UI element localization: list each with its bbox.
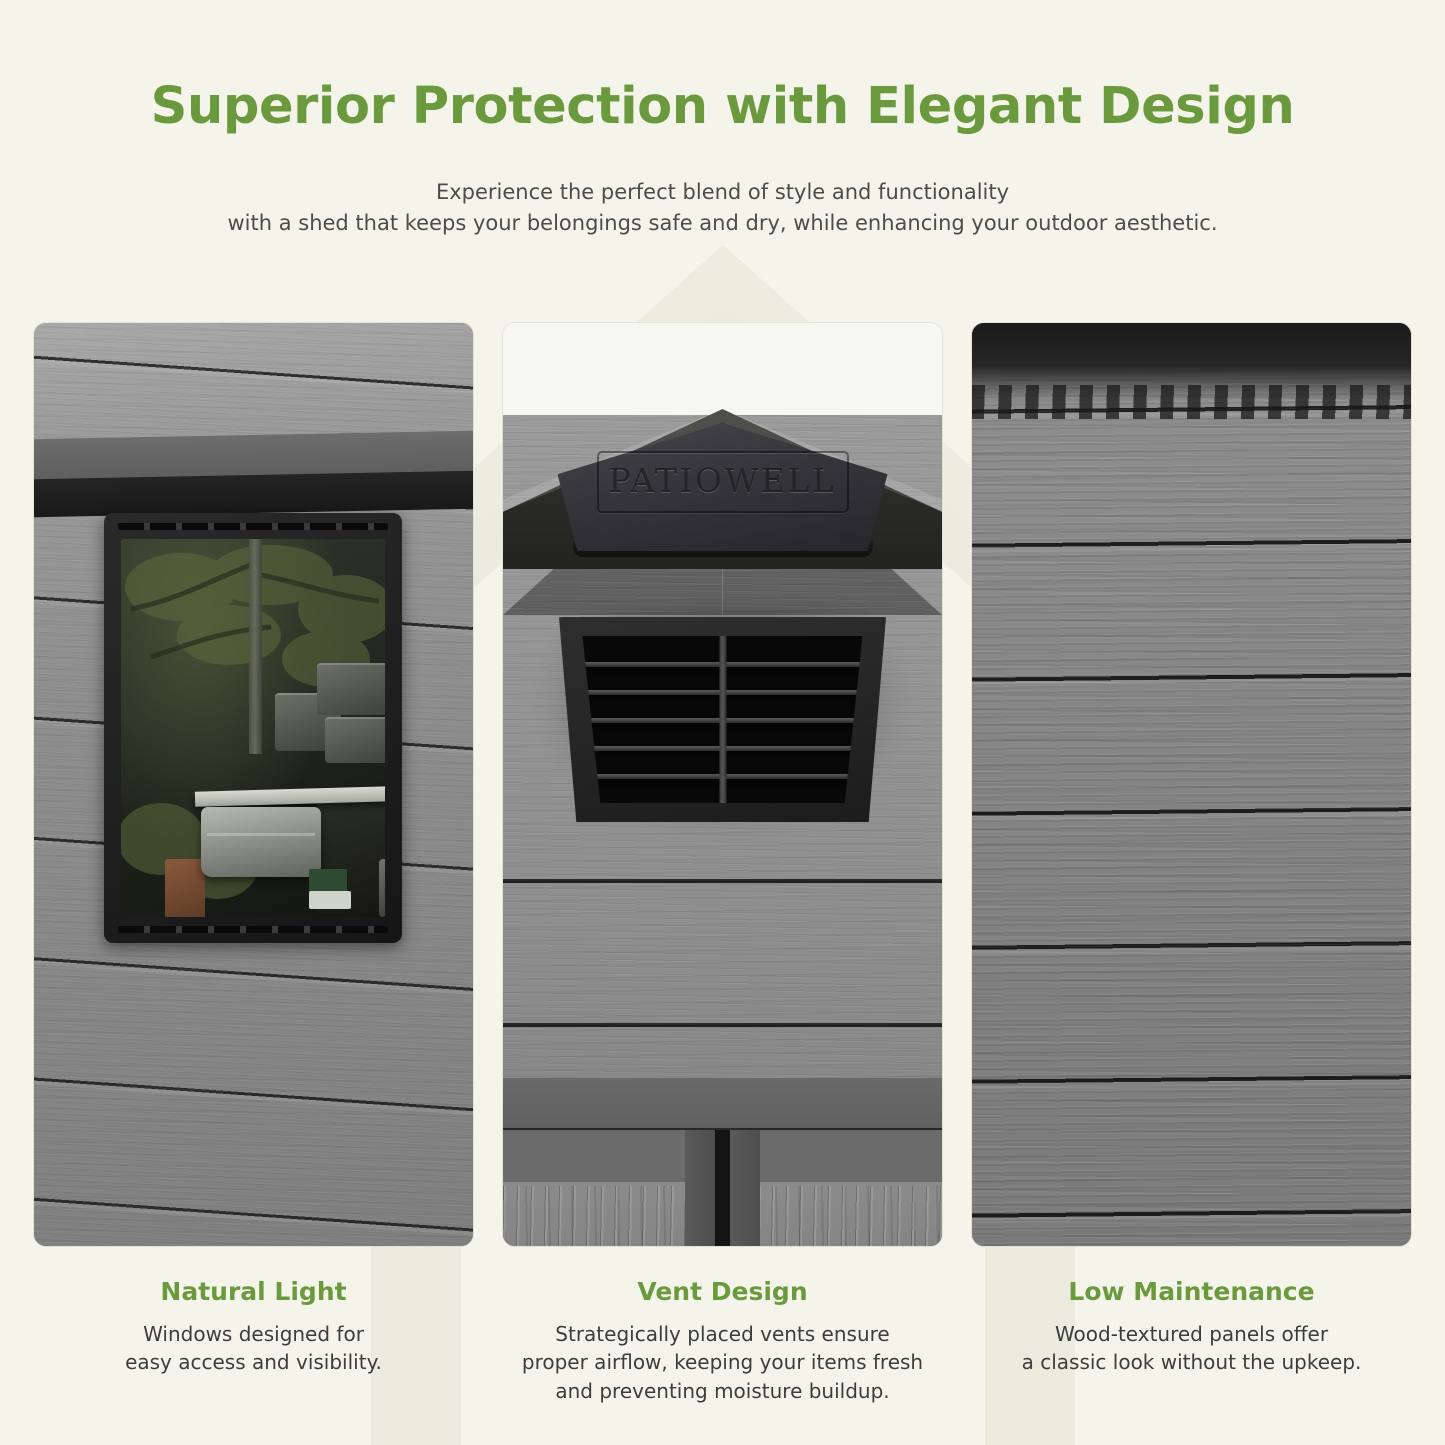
- vent-louvers-icon: [574, 636, 872, 803]
- brand-emboss-text: PATIOWELL: [609, 461, 837, 500]
- caption-text: Wood-textured panels offer a classic loo…: [971, 1320, 1412, 1377]
- shed-doors: [503, 1130, 942, 1246]
- caption-low-maintenance: Low Maintenance Wood-textured panels off…: [971, 1247, 1412, 1377]
- subtitle-line-2: with a shed that keeps your belongings s…: [0, 208, 1445, 238]
- feature-card-row: Natural Light Windows designed for easy …: [0, 322, 1445, 1405]
- feature-card-natural-light: Natural Light Windows designed for easy …: [33, 322, 474, 1405]
- caption-title: Vent Design: [502, 1277, 943, 1307]
- caption-text: Windows designed for easy access and vis…: [33, 1320, 474, 1377]
- window-frame-icon: [104, 513, 402, 943]
- caption-line-2: easy access and visibility.: [33, 1348, 474, 1376]
- caption-title: Low Maintenance: [971, 1277, 1412, 1307]
- caption-line-1: Strategically placed vents ensure: [502, 1320, 943, 1348]
- caption-line-2: a classic look without the upkeep.: [971, 1348, 1412, 1376]
- caption-natural-light: Natural Light Windows designed for easy …: [33, 1247, 474, 1377]
- shed-vent-photo: PATIOWELL: [502, 322, 943, 1247]
- caption-vent-design: Vent Design Strategically placed vents e…: [502, 1247, 943, 1405]
- caption-title: Natural Light: [33, 1277, 474, 1307]
- feature-card-low-maintenance: Low Maintenance Wood-textured panels off…: [971, 322, 1412, 1405]
- page-subtitle: Experience the perfect blend of style an…: [0, 177, 1445, 238]
- shed-window-photo: [33, 322, 474, 1247]
- subtitle-line-1: Experience the perfect blend of style an…: [436, 180, 1009, 204]
- feature-card-vent-design: PATIOWELL Vent Design St: [502, 322, 943, 1405]
- header: Superior Protection with Elegant Design …: [0, 0, 1445, 238]
- caption-line-2: proper airflow, keeping your items fresh: [502, 1348, 943, 1376]
- caption-line-1: Wood-textured panels offer: [971, 1320, 1412, 1348]
- caption-line-1: Windows designed for: [33, 1320, 474, 1348]
- caption-text: Strategically placed vents ensure proper…: [502, 1320, 943, 1405]
- caption-line-3: and preventing moisture buildup.: [502, 1377, 943, 1405]
- page-title: Superior Protection with Elegant Design: [0, 78, 1445, 135]
- wood-textured-panel-photo: [971, 322, 1412, 1247]
